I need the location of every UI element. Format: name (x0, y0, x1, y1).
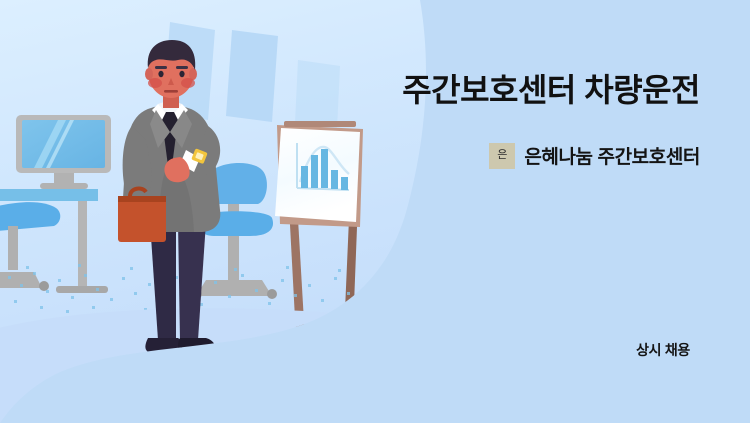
chart-bar-4 (331, 170, 338, 189)
cheek-left (148, 78, 162, 88)
ear-left (145, 68, 153, 80)
shoe-right (178, 338, 216, 353)
ear-right (189, 68, 197, 80)
organization-name: 은혜나눔 주간보호센터 (524, 142, 700, 169)
monitor-foot (40, 183, 88, 189)
organization-badge-icon: 은 (489, 143, 515, 169)
briefcase-lid (118, 196, 166, 202)
desk-base (56, 286, 108, 293)
mouth (164, 90, 178, 93)
organization-row: 은 은혜나눔 주간보호센터 (300, 142, 700, 169)
shoe-left (145, 338, 182, 353)
monitor-neck (54, 173, 74, 183)
office-scene-illustration (0, 0, 470, 423)
chart-bar-5 (341, 177, 348, 190)
chart-bar-1 (301, 166, 308, 188)
chair-left-caster (39, 281, 49, 291)
cheek-right (181, 78, 195, 88)
floor (0, 308, 470, 423)
page-title: 주간보호센터 차량운전 (270, 72, 700, 109)
job-posting-banner: 주간보호센터 차량운전 은 은혜나눔 주간보호센터 상시 채용 (0, 0, 750, 423)
eye-right (179, 71, 184, 77)
chair-right-caster-r (267, 289, 277, 299)
desk-top (0, 189, 98, 201)
chair-right-base (196, 280, 272, 296)
chair-left-post (8, 226, 18, 270)
briefcase (118, 196, 166, 242)
illustration-blob (0, 0, 470, 423)
status-badge: 상시 채용 (636, 340, 690, 360)
chair-right-post (228, 236, 239, 282)
eye-left (158, 71, 163, 77)
illustration-panel (0, 0, 470, 423)
eyebrow-left (155, 66, 167, 69)
easel-clip (284, 121, 356, 127)
monitor-screen (22, 120, 105, 168)
eyebrow-right (176, 66, 188, 69)
